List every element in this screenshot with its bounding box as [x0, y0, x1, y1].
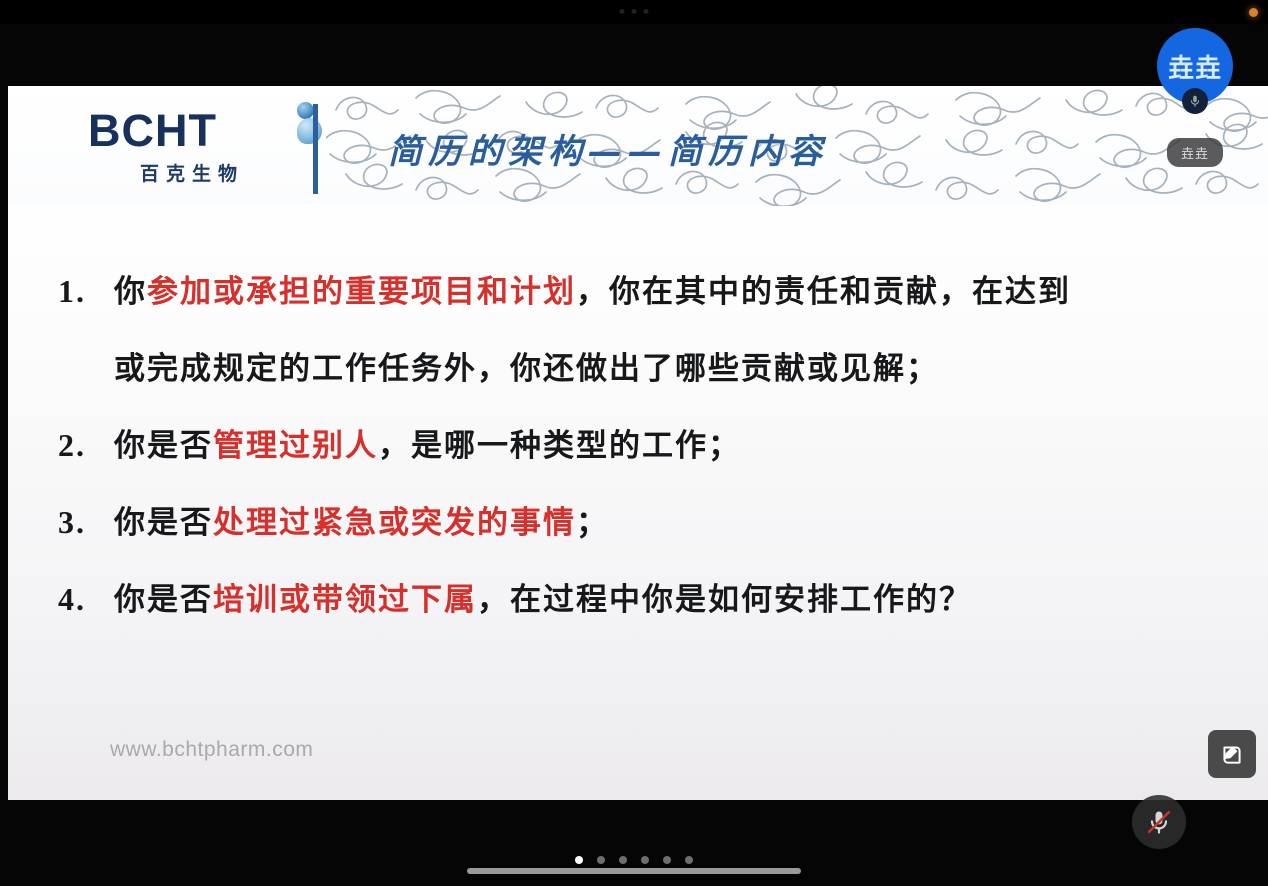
- logo-wordmark: BCHT: [88, 108, 288, 153]
- page-dot[interactable]: [663, 856, 671, 864]
- slide-list-item: 2.你是否管理过别人，是哪一种类型的工作；: [58, 420, 1208, 465]
- status-dots: [620, 9, 649, 14]
- list-item-text: 你是否管理过别人，是哪一种类型的工作；: [114, 420, 741, 465]
- highlighted-text: 处理过紧急或突发的事情: [213, 505, 576, 541]
- logo-bubble-small-icon: [297, 102, 314, 119]
- company-logo: BCHT 百克生物: [88, 108, 288, 186]
- highlighted-text: 管理过别人: [213, 428, 378, 464]
- status-dot: [620, 9, 625, 14]
- list-item-number: 2.: [58, 427, 114, 464]
- plain-text: 或完成规定的工作任务外，你还做出了哪些贡献或见解；: [114, 351, 939, 387]
- annotate-button[interactable]: [1208, 730, 1256, 778]
- list-item-number: 1.: [58, 273, 114, 310]
- plain-text: ，在过程中你是如何安排工作的？: [477, 582, 972, 618]
- list-item-text: 你是否处理过紧急或突发的事情；: [114, 497, 609, 542]
- page-dot[interactable]: [619, 856, 627, 864]
- list-item-number: 3.: [58, 504, 114, 541]
- home-indicator-bar: [467, 868, 801, 874]
- slide-body: 1.你参加或承担的重要项目和计划，你在其中的责任和贡献，在达到或完成规定的工作任…: [8, 206, 1268, 619]
- slide-header: BCHT 百克生物: [8, 86, 1268, 206]
- presentation-slide[interactable]: BCHT 百克生物: [8, 86, 1268, 800]
- list-item-text: 你是否培训或带领过下属，在过程中你是如何安排工作的？: [114, 574, 972, 619]
- participant-name-label: 垚垚: [1167, 138, 1223, 167]
- microphone-icon: [1182, 88, 1208, 114]
- slide-title: 简历的架构——简历内容: [388, 124, 828, 173]
- slide-list-item: 1.你参加或承担的重要项目和计划，你在其中的责任和贡献，在达到: [58, 266, 1208, 311]
- list-item-number: 4.: [58, 581, 114, 618]
- list-item-text: 或完成规定的工作任务外，你还做出了哪些贡献或见解；: [114, 343, 939, 388]
- status-dot: [644, 9, 649, 14]
- slide-list-item: 或完成规定的工作任务外，你还做出了哪些贡献或见解；: [114, 343, 1208, 388]
- plain-text: 你: [114, 274, 147, 310]
- recording-indicator-dot: [1249, 8, 1258, 17]
- highlighted-text: 参加或承担的重要项目和计划: [147, 274, 576, 310]
- page-indicator-dots[interactable]: [575, 856, 693, 864]
- mute-microphone-button[interactable]: [1132, 795, 1186, 849]
- slide-list-item: 3.你是否处理过紧急或突发的事情；: [58, 497, 1208, 542]
- status-bar: [0, 0, 1268, 24]
- page-dot-active[interactable]: [575, 856, 583, 864]
- footer-url: www.bchtpharm.com: [110, 738, 313, 762]
- logo-subtitle: 百克生物: [140, 159, 288, 186]
- slide-list-item: 4.你是否培训或带领过下属，在过程中你是如何安排工作的？: [58, 574, 1208, 619]
- logo-bubble-large-icon: [297, 118, 322, 144]
- highlighted-text: 培训或带领过下属: [213, 582, 477, 618]
- participant-tile[interactable]: 垚垚 垚垚: [1157, 28, 1233, 104]
- plain-text: ；: [576, 505, 609, 541]
- screen-root: BCHT 百克生物: [0, 0, 1268, 886]
- page-dot[interactable]: [685, 856, 693, 864]
- page-dot[interactable]: [597, 856, 605, 864]
- page-dot[interactable]: [641, 856, 649, 864]
- microphone-muted-icon: [1145, 808, 1173, 836]
- plain-text: 你是否: [114, 505, 213, 541]
- status-dot: [632, 9, 637, 14]
- plain-text: ，是哪一种类型的工作；: [378, 428, 741, 464]
- plain-text: 你是否: [114, 428, 213, 464]
- pen-annotate-icon: [1219, 741, 1245, 767]
- list-item-text: 你参加或承担的重要项目和计划，你在其中的责任和贡献，在达到: [114, 266, 1071, 311]
- header-divider: [313, 104, 318, 194]
- plain-text: 你是否: [114, 582, 213, 618]
- plain-text: ，你在其中的责任和贡献，在达到: [576, 274, 1071, 310]
- slide-items-list: 1.你参加或承担的重要项目和计划，你在其中的责任和贡献，在达到或完成规定的工作任…: [58, 266, 1208, 619]
